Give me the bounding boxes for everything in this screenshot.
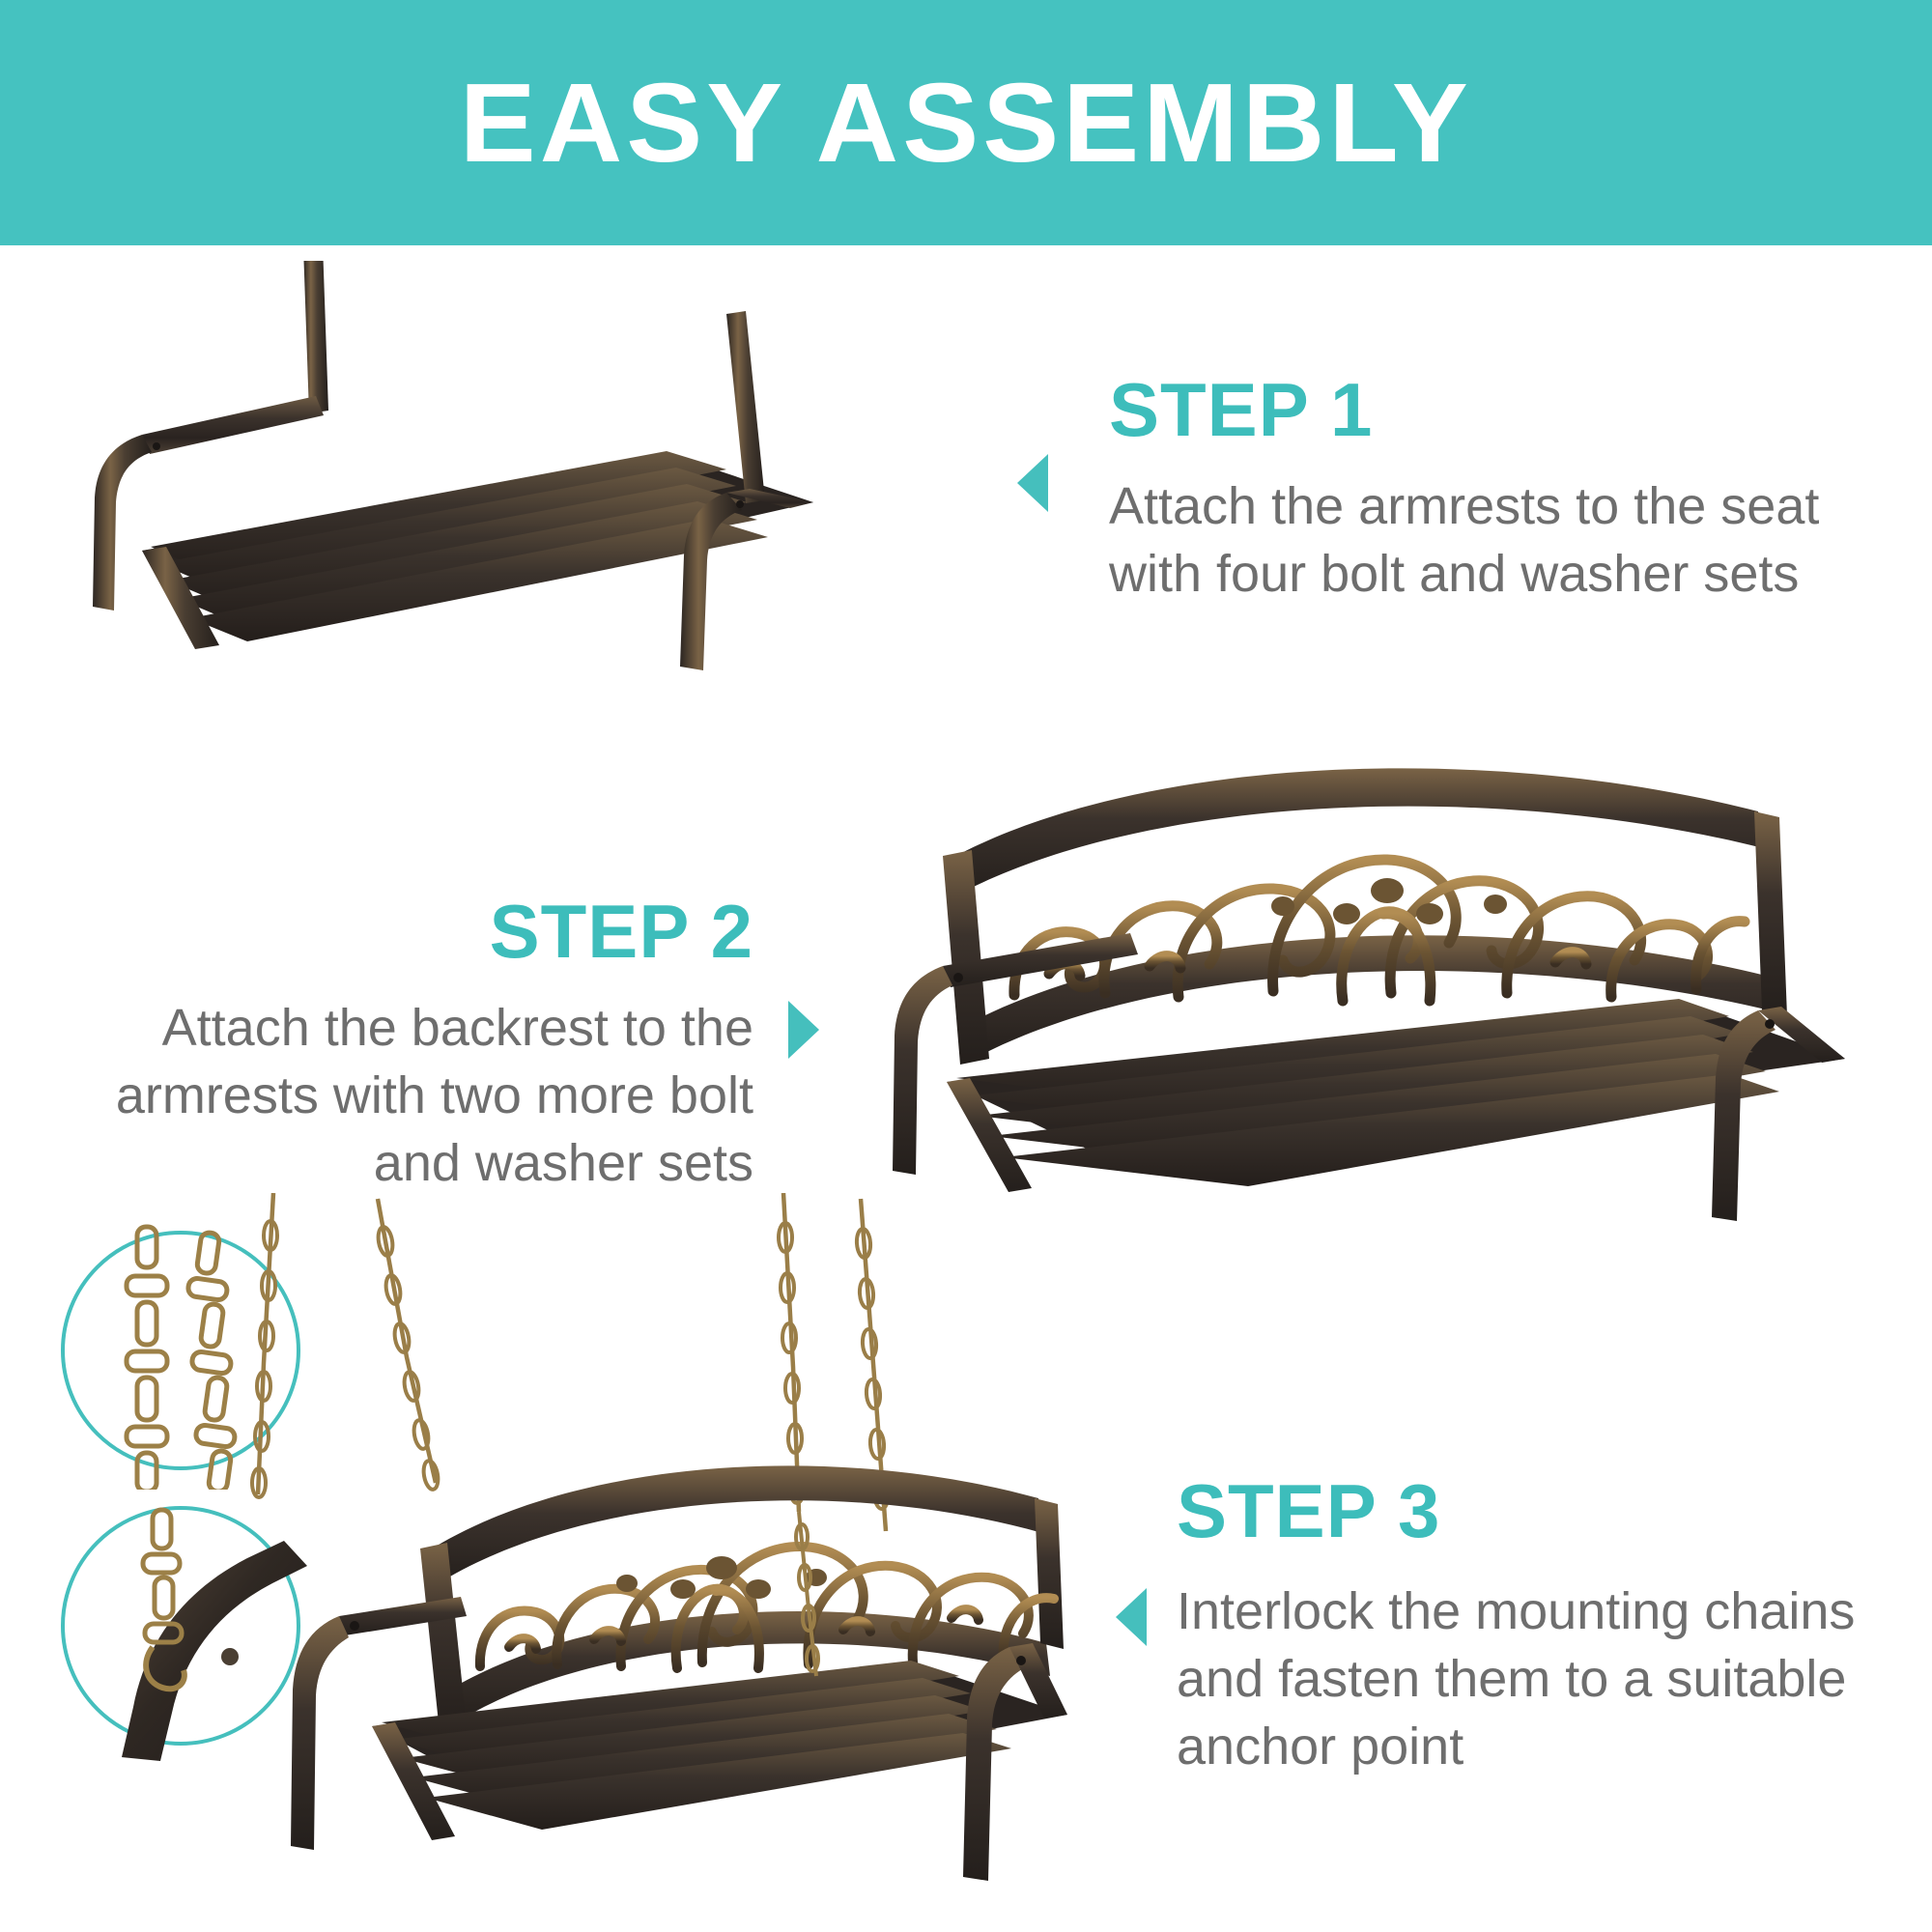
seat-slats-group xyxy=(947,999,1845,1192)
step-2-body: Attach the backrest to the armrests with… xyxy=(58,994,753,1198)
illustration-step-1-seat-with-armrests xyxy=(50,261,842,705)
step-2-heading: STEP 2 xyxy=(58,894,753,969)
page-title: EASY ASSEMBLY xyxy=(460,67,1472,179)
step-3-heading: STEP 3 xyxy=(1177,1473,1911,1548)
triangle-right-icon xyxy=(788,1001,819,1059)
triangle-left-icon xyxy=(1116,1588,1147,1646)
chain-tail xyxy=(796,1512,818,1676)
step-1-heading: STEP 1 xyxy=(1109,372,1882,447)
step-2-text-block: STEP 2 Attach the backrest to the armres… xyxy=(58,894,753,1198)
step-3-body: Interlock the mounting chains and fasten… xyxy=(1177,1577,1911,1781)
right-armrest-group xyxy=(963,1643,1067,1881)
step-1-text-block: STEP 1 Attach the armrests to the seat w… xyxy=(1109,372,1882,608)
seat-slats-group xyxy=(142,451,813,649)
triangle-left-icon xyxy=(1017,454,1048,512)
header-banner: EASY ASSEMBLY xyxy=(0,0,1932,245)
chain-links-detail-icon xyxy=(127,1227,236,1490)
step-3-text-block: STEP 3 Interlock the mounting chains and… xyxy=(1177,1473,1911,1781)
illustration-step-3-swing-with-chains xyxy=(237,1193,1106,1908)
step-1-body: Attach the armrests to the seat with fou… xyxy=(1109,472,1882,608)
